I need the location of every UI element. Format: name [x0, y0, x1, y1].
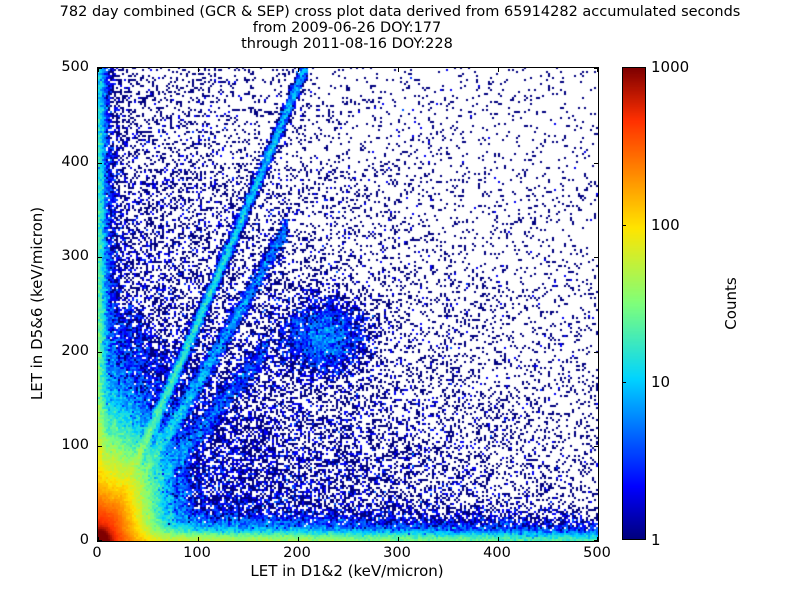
title-line-3: through 2011-08-16 DOY:228: [0, 36, 747, 52]
x-tick-label: 100: [183, 545, 211, 561]
x-tick-label: 200: [283, 545, 311, 561]
title-line-1: 782 day combined (GCR & SEP) cross plot …: [0, 4, 800, 20]
x-tick: [298, 68, 299, 72]
y-tick-label: 0: [39, 532, 89, 548]
x-tick: [398, 537, 399, 541]
y-tick: [98, 540, 102, 541]
y-tick-label: 500: [39, 59, 89, 75]
colorbar-gradient: [622, 67, 646, 540]
x-tick: [198, 68, 199, 72]
y-tick-label: 300: [39, 248, 89, 264]
colorbar-tick: [622, 225, 626, 226]
colorbar[interactable]: [622, 67, 646, 540]
x-tick-label: 500: [583, 545, 611, 561]
x-tick: [198, 537, 199, 541]
x-tick: [498, 537, 499, 541]
x-tick-label: 300: [383, 545, 411, 561]
x-tick: [498, 68, 499, 72]
y-tick-label: 400: [39, 154, 89, 170]
x-axis-label: LET in D1&2 (keV/micron): [97, 562, 597, 580]
colorbar-label: Counts: [722, 67, 740, 540]
title-line-2: from 2009-06-26 DOY:177: [0, 20, 747, 36]
density-heatmap: [98, 68, 598, 541]
y-tick: [98, 68, 102, 69]
figure-title: 782 day combined (GCR & SEP) cross plot …: [0, 4, 800, 53]
x-tick: [398, 68, 399, 72]
colorbar-tick-label: 1000: [651, 58, 689, 76]
y-tick: [98, 352, 102, 353]
y-tick: [594, 446, 598, 447]
colorbar-tick: [622, 382, 626, 383]
y-tick-label: 100: [39, 437, 89, 453]
colorbar-tick-label: 100: [651, 216, 680, 234]
y-tick: [594, 540, 598, 541]
figure-canvas: 782 day combined (GCR & SEP) cross plot …: [0, 0, 800, 600]
x-tick-label: 0: [92, 545, 101, 561]
y-tick-label: 200: [39, 343, 89, 359]
y-tick: [594, 257, 598, 258]
y-tick: [98, 163, 102, 164]
plot-area[interactable]: [97, 67, 599, 542]
colorbar-tick-label: 1: [651, 531, 661, 549]
colorbar-tick-label: 10: [651, 373, 670, 391]
y-tick: [594, 163, 598, 164]
y-tick: [98, 446, 102, 447]
y-tick: [98, 257, 102, 258]
y-tick: [594, 352, 598, 353]
y-axis-label: LET in D5&6 (keV/micron): [28, 67, 46, 540]
x-tick-label: 400: [483, 545, 511, 561]
y-tick: [594, 68, 598, 69]
x-tick: [298, 537, 299, 541]
